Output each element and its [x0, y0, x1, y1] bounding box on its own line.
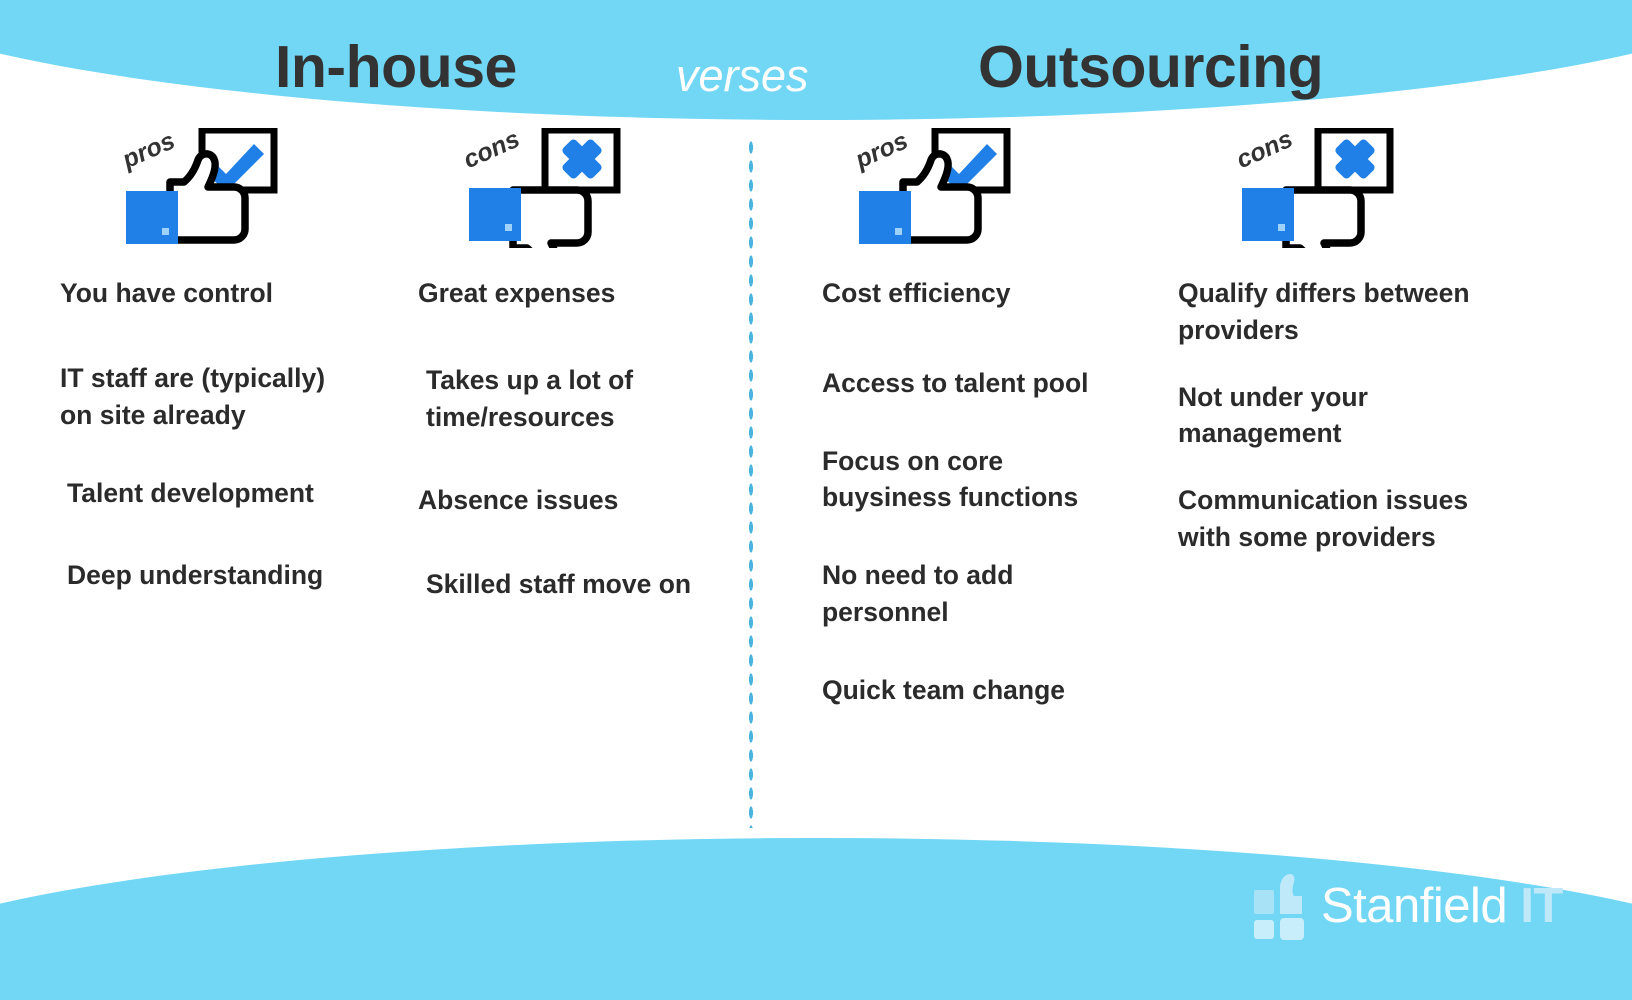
top-banner — [0, 0, 1632, 120]
badge-outsourcing-pros: pros — [855, 128, 1035, 248]
page-title-outsourcing: Outsourcing — [978, 33, 1323, 101]
list-item: Communication issues with some providers — [1178, 482, 1508, 556]
list-item: Talent development — [60, 475, 360, 512]
stanfield-thumb-icon — [1254, 872, 1312, 940]
brand-logo: Stanfield IT — [1254, 872, 1563, 940]
column-in-house-pros: You have control IT staff are (typically… — [60, 275, 360, 594]
brand-logo-text: Stanfield IT — [1321, 878, 1563, 934]
page-title-in-house: In-house — [275, 33, 517, 101]
list-item: No need to add personnel — [822, 557, 1122, 631]
badge-outsourcing-cons: cons — [1238, 128, 1418, 248]
list-item: Skilled staff move on — [418, 566, 708, 603]
list-item: Not under your management — [1178, 379, 1508, 453]
list-item: You have control — [60, 275, 360, 312]
list-item: IT staff are (typically) on site already — [60, 360, 360, 434]
vertical-dotted-divider — [748, 138, 754, 828]
column-outsourcing-cons: Qualify differs between providers Not un… — [1178, 275, 1508, 586]
column-outsourcing-pros: Cost efficiency Access to talent pool Fo… — [822, 275, 1122, 750]
list-item: Quick team change — [822, 672, 1122, 709]
list-item: Takes up a lot of time/resources — [418, 362, 708, 436]
list-item: Access to talent pool — [822, 365, 1122, 402]
list-item: Absence issues — [418, 482, 708, 519]
list-item: Deep understanding — [60, 557, 360, 594]
list-item: Qualify differs between providers — [1178, 275, 1508, 349]
list-item: Great expenses — [418, 275, 708, 312]
slide-canvas: In-house verses Outsourcing pros — [0, 0, 1632, 1000]
badge-in-house-cons: cons — [465, 128, 645, 248]
column-in-house-cons: Great expenses Takes up a lot of time/re… — [418, 275, 708, 650]
list-item: Cost efficiency — [822, 275, 1122, 312]
list-item: Focus on core buysiness functions — [822, 443, 1122, 517]
brand-suffix: IT — [1520, 879, 1563, 933]
badge-in-house-pros: pros — [122, 128, 302, 248]
page-title-separator-word: verses — [676, 50, 809, 102]
brand-name: Stanfield — [1321, 879, 1520, 933]
